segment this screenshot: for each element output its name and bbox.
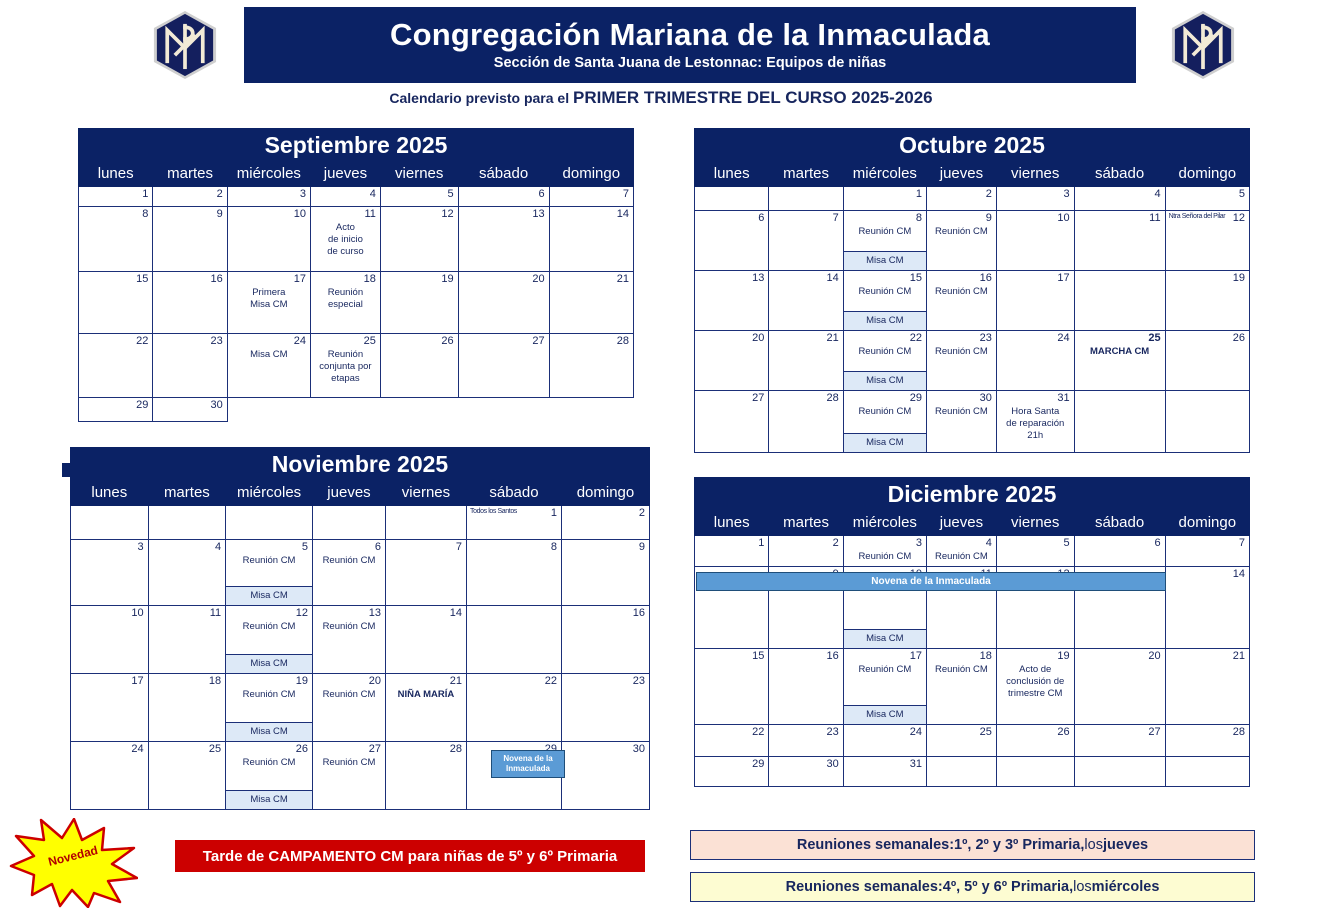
day-cell-25[interactable]: 25 [148, 742, 226, 810]
day-cell-6[interactable]: 6 [458, 187, 549, 207]
weekday-header-miércoles: miércoles [843, 161, 926, 187]
day-event-label: Reunión CM [313, 553, 385, 570]
day-number: 16 [769, 649, 842, 662]
calendar-week-row: 293031 [695, 756, 1250, 786]
day-cell-15[interactable]: 15 [695, 648, 769, 724]
day-cell-18[interactable]: 18Reuniónespecial [310, 272, 380, 334]
day-cell-14[interactable]: 14 [385, 606, 466, 674]
day-event-label: Tarde deCAMPAMENTO CM [1075, 284, 1165, 313]
calendar-week-row: 151617PrimeraMisa CM18Reuniónespecial192… [79, 272, 634, 334]
calendar-week-row: 2930 [79, 398, 634, 422]
day-cell-12[interactable]: 12 [380, 207, 458, 272]
weekday-header-lunes: lunes [695, 510, 769, 536]
day-cell-21[interactable]: 21 [549, 272, 633, 334]
day-cell-9[interactable]: 9 [153, 207, 227, 272]
day-number: 2 [153, 187, 226, 200]
day-cell-26[interactable]: 26 [996, 724, 1074, 756]
day-number: 16 [927, 271, 996, 284]
day-cell-29[interactable]: 29Reunión CMMisa CM [843, 391, 926, 453]
day-number: 6 [313, 540, 385, 553]
day-cell-14[interactable]: 14 [549, 207, 633, 272]
day-number [226, 506, 312, 507]
day-event-label: Reunión CM [844, 284, 926, 301]
day-cell-23[interactable]: 23 [561, 674, 649, 742]
day-cell-2[interactable]: 2 [153, 187, 227, 207]
weekday-header-sábado: sábado [1074, 510, 1165, 536]
day-cell-26[interactable]: 26 [380, 334, 458, 398]
day-number: 16 [562, 606, 649, 619]
day-cell-6[interactable]: 6Reunión CM [313, 540, 386, 606]
day-number: 12 [226, 606, 312, 619]
day-cell-empty [148, 506, 226, 540]
day-cell-16[interactable]: 16 [769, 648, 843, 724]
day-cell-1[interactable]: 1 [843, 187, 926, 211]
day-cell-7[interactable]: 7 [1165, 536, 1249, 567]
legend-pink-connector: los [1084, 837, 1103, 853]
day-number: 4 [1075, 187, 1165, 200]
day-cell-26[interactable]: 26 [1165, 331, 1249, 391]
weekday-header-miércoles: miércoles [843, 510, 926, 536]
weekday-header-row: lunesmartesmiércolesjuevesviernessábadod… [71, 480, 650, 506]
day-cell-12[interactable]: Ntra Señora del Pilar12 [1165, 211, 1249, 271]
weekday-header-martes: martes [769, 510, 843, 536]
day-number: 26 [226, 742, 312, 755]
day-number: 6 [695, 211, 768, 224]
day-event-label: NIÑA MARÍA [386, 687, 466, 704]
calendar-title-december: Diciembre 2025 [694, 477, 1250, 509]
day-cell-empty [1165, 756, 1249, 786]
day-cell-17[interactable]: 17PrimeraMisa CM [227, 272, 310, 334]
novena-bar: Novena de la Inmaculada [696, 572, 1166, 591]
weekday-header-sábado: sábado [458, 161, 549, 187]
day-number: 21 [550, 272, 633, 285]
day-cell-14[interactable]: 14 [769, 271, 843, 331]
day-event-label: MARCHA CM [1075, 344, 1165, 361]
day-number: 4 [311, 187, 380, 200]
day-cell-23[interactable]: 23 [153, 334, 227, 398]
day-cell-29[interactable]: 29 [695, 756, 769, 786]
day-cell-21[interactable]: 21 [769, 331, 843, 391]
day-cell-5[interactable]: 5 [380, 187, 458, 207]
day-cell-27[interactable]: 27 [695, 391, 769, 453]
day-cell-30[interactable]: 30Reunión CM [926, 391, 996, 453]
calendar-grid-december: lunesmartesmiércolesjuevesviernessábadod… [694, 509, 1250, 787]
day-event-label: Reuniónespecial [311, 285, 380, 314]
day-cell-26[interactable]: 26Reunión CMMisa CM [226, 742, 313, 810]
day-cell-28[interactable]: 28 [549, 334, 633, 398]
day-cell-4[interactable]: 4 [1074, 187, 1165, 211]
day-cell-28[interactable]: 28 [385, 742, 466, 810]
day-number [313, 506, 385, 507]
day-number: 22 [467, 674, 561, 687]
day-cell-19[interactable]: 19Reunión CMMisa CM [226, 674, 313, 742]
weekday-header-miércoles: miércoles [226, 480, 313, 506]
day-event-label: Reuniónconjunta poretapas [311, 347, 380, 388]
day-cell-8[interactable]: 8 [467, 540, 562, 606]
legend-yellow-grades: 4º, 5º y 6º Primaria, [943, 879, 1073, 895]
day-cell-13[interactable]: 13Reunión CM [313, 606, 386, 674]
day-cell-20[interactable]: 20Reunión CM [313, 674, 386, 742]
day-cell-16[interactable]: 16Reunión CM [926, 271, 996, 331]
day-event-label: Reunión CM [844, 662, 926, 679]
weekday-header-viernes: viernes [996, 510, 1074, 536]
day-cell-21[interactable]: 21NIÑA MARÍA [385, 674, 466, 742]
day-number: 2 [562, 506, 649, 519]
day-number: 6 [459, 187, 549, 200]
day-cell-11[interactable]: 11Actode iniciode curso [310, 207, 380, 272]
day-number: 18 [149, 674, 226, 687]
weekday-header-domingo: domingo [1165, 161, 1249, 187]
day-cell-13[interactable]: 13 [695, 271, 769, 331]
day-event-label: Reunión CM [927, 404, 996, 421]
day-cell-29[interactable]: 29 [79, 398, 153, 422]
calendar-week-row: 22232425262728 [695, 724, 1250, 756]
day-event-label: Reunión CM [313, 755, 385, 772]
day-number: 29 [844, 391, 926, 404]
day-cell-17[interactable]: 17 [71, 674, 149, 742]
page-title: Congregación Mariana de la Inmaculada [390, 19, 990, 52]
day-event-label: Reunión CM [927, 344, 996, 361]
day-cell-30[interactable]: 30 [769, 756, 843, 786]
day-cell-5[interactable]: 5 [1165, 187, 1249, 211]
day-cell-10[interactable]: 10 [227, 207, 310, 272]
day-cell-12[interactable]: 12Reunión CMMisa CM [226, 606, 313, 674]
weekday-header-jueves: jueves [313, 480, 386, 506]
day-event-label: Reunión CM [927, 284, 996, 301]
day-event-label: Actode iniciode curso [311, 220, 380, 261]
day-number: 3 [71, 540, 148, 553]
day-cell-18[interactable]: 18 [148, 674, 226, 742]
weekday-header-domingo: domingo [561, 480, 649, 506]
calendar-december: Diciembre 2025 lunesmartesmiércolesjueve… [694, 477, 1250, 787]
day-number: 19 [1166, 271, 1249, 284]
day-number: 11 [149, 606, 226, 619]
day-cell-11[interactable]: 11 [148, 606, 226, 674]
day-cell-15[interactable]: 15 [79, 272, 153, 334]
day-number: 19 [226, 674, 312, 687]
day-number: 24 [844, 725, 926, 738]
weekday-header-sábado: sábado [467, 480, 562, 506]
day-cell-empty [385, 506, 466, 540]
day-cell-30[interactable]: 30 [561, 742, 649, 810]
day-cell-27[interactable]: 27 [458, 334, 549, 398]
day-event-label: Reunión CM [313, 619, 385, 636]
day-cell-10[interactable]: 10 [996, 211, 1074, 271]
day-cell-3[interactable]: 3 [227, 187, 310, 207]
monogram-hexagon-logo-right [1166, 8, 1240, 82]
day-cell-6[interactable]: 6 [1074, 536, 1165, 567]
day-number: 22 [79, 334, 152, 347]
calendar-title-november: Noviembre 2025 [70, 447, 650, 479]
day-cell-15[interactable]: 15Reunión CMMisa CM [843, 271, 926, 331]
day-cell-25[interactable]: 25 [926, 724, 996, 756]
day-cell-empty [380, 398, 458, 422]
day-cell-16[interactable]: 16 [561, 606, 649, 674]
legend-yellow-connector: los [1073, 879, 1092, 895]
day-cell-1[interactable]: Todos los Santos1 [467, 506, 562, 540]
day-number: 7 [550, 187, 633, 200]
day-event-label: Reunión CM [226, 553, 312, 570]
day-event-label: Reunión CM [226, 619, 312, 636]
calendar-week-row: 171819Reunión CMMisa CM20Reunión CM21NIÑ… [71, 674, 650, 742]
day-cell-30[interactable]: 30 [153, 398, 227, 422]
day-number: 9 [153, 207, 226, 220]
day-cell-3[interactable]: 3 [71, 540, 149, 606]
day-cell-17[interactable]: 17Reunión CMMisa CM [843, 648, 926, 724]
day-number: 18 [1075, 271, 1165, 284]
day-number: 13 [695, 271, 768, 284]
day-cell-20[interactable]: 20 [458, 272, 549, 334]
day-cell-20[interactable]: 20 [695, 331, 769, 391]
day-number: 9 [562, 540, 649, 553]
day-number: 28 [386, 742, 466, 755]
day-cell-5[interactable]: 5 [996, 536, 1074, 567]
day-cell-4[interactable]: 4 [148, 540, 226, 606]
day-cell-17[interactable]: 17 [996, 271, 1074, 331]
day-number: 4 [927, 536, 996, 549]
day-number: 3 [997, 187, 1074, 200]
day-cell-empty [310, 398, 380, 422]
day-cell-6[interactable]: 6 [695, 211, 769, 271]
day-number: 10 [228, 207, 310, 220]
day-number: 19 [997, 649, 1074, 662]
day-number: 30 [769, 757, 842, 770]
day-number: 30 [562, 742, 649, 755]
day-cell-18[interactable]: 18Tarde deCAMPAMENTO CM [1074, 271, 1165, 331]
day-event-label: Tarde deCAMPAMENTO CM [467, 619, 561, 648]
weekday-header-jueves: jueves [926, 161, 996, 187]
day-cell-11[interactable]: 11 [1074, 211, 1165, 271]
day-cell-8[interactable]: 8 [79, 207, 153, 272]
calendar-grid-october: lunesmartesmiércolesjuevesviernessábadod… [694, 160, 1250, 453]
day-cell-10[interactable]: 10 [71, 606, 149, 674]
weekday-header-lunes: lunes [71, 480, 149, 506]
day-cell-24[interactable]: 24 [843, 724, 926, 756]
day-event-label: Reunión CM [844, 549, 926, 566]
day-number [71, 506, 148, 507]
day-cell-5[interactable]: 5Reunión CMMisa CM [226, 540, 313, 606]
day-cell-1[interactable]: 1 [79, 187, 153, 207]
calendar-week-row: 202122Reunión CMMisa CM23Reunión CM2425M… [695, 331, 1250, 391]
day-number: 8 [79, 207, 152, 220]
day-cell-3[interactable]: 3Reunión CM [843, 536, 926, 567]
day-cell-19[interactable]: 19Acto deconclusión detrimestre CM [996, 648, 1074, 724]
weekday-header-domingo: domingo [1165, 510, 1249, 536]
day-secondary-event-label: Misa CM [226, 586, 312, 605]
day-cell-empty [313, 506, 386, 540]
day-cell-14[interactable]: 14 [1165, 566, 1249, 648]
day-event-label: Reunión CM [927, 662, 996, 679]
day-cell-25[interactable]: 25MARCHA CM [1074, 331, 1165, 391]
day-number: 10 [71, 606, 148, 619]
weekday-header-martes: martes [148, 480, 226, 506]
day-cell-27[interactable]: 27 [1074, 724, 1165, 756]
day-number: 29 [695, 757, 768, 770]
day-cell-28[interactable]: 28 [769, 391, 843, 453]
day-number: 20 [1075, 649, 1165, 662]
weekday-header-row: lunesmartesmiércolesjuevesviernessábadod… [695, 161, 1250, 187]
novedad-starburst [8, 818, 138, 908]
weekday-header-martes: martes [153, 161, 227, 187]
day-number: 9 [927, 211, 996, 224]
day-number: 20 [313, 674, 385, 687]
day-cell-18[interactable]: 18Reunión CM [926, 648, 996, 724]
day-cell-7[interactable]: 7 [549, 187, 633, 207]
day-cell-2[interactable]: 2 [769, 536, 843, 567]
day-number: 15 [695, 649, 768, 662]
calendar-week-row: 123Reunión CM4Reunión CM567 [695, 536, 1250, 567]
day-number: 28 [550, 334, 633, 347]
day-event-label: Reunión CM [844, 224, 926, 241]
day-number: 21 [1166, 649, 1249, 662]
calendar-title-september: Septiembre 2025 [78, 128, 634, 160]
day-cell-empty [1074, 756, 1165, 786]
day-number: 13 [313, 606, 385, 619]
day-cell-4[interactable]: 4 [310, 187, 380, 207]
day-number: 5 [226, 540, 312, 553]
day-number: 14 [550, 207, 633, 220]
day-secondary-event-label: Misa CM [844, 629, 926, 648]
day-cell-empty [769, 187, 843, 211]
day-event-label: Reunión CM [844, 404, 926, 421]
day-number: 10 [997, 211, 1074, 224]
day-secondary-event-label: Misa CM [844, 371, 926, 390]
day-event-label: Reunión CM [927, 224, 996, 241]
day-number: 19 [381, 272, 458, 285]
day-cell-23[interactable]: 23 [769, 724, 843, 756]
day-number: 5 [381, 187, 458, 200]
day-cell-24[interactable]: 24 [996, 331, 1074, 391]
calendar-week-row: 678Reunión CMMisa CM9Reunión CM1011Ntra … [695, 211, 1250, 271]
calendar-week-row: 222324Misa CM25Reuniónconjunta poretapas… [79, 334, 634, 398]
day-number: 14 [769, 271, 842, 284]
day-number: 21 [769, 331, 842, 344]
day-number: 28 [769, 391, 842, 404]
weekday-header-sábado: sábado [1074, 161, 1165, 187]
day-cell-9[interactable]: 9 [561, 540, 649, 606]
day-number: 16 [153, 272, 226, 285]
calendar-week-row: 151617Reunión CMMisa CM18Reunión CM19Act… [695, 648, 1250, 724]
legend-campamento: Tarde de CAMPAMENTO CM para niñas de 5º … [175, 840, 645, 872]
day-cell-22[interactable]: 22 [467, 674, 562, 742]
day-number: 7 [386, 540, 466, 553]
calendar-november: Noviembre 2025 lunesmartesmiércolesjueve… [70, 447, 650, 810]
day-number: 3 [844, 536, 926, 549]
day-cell-1[interactable]: 1 [695, 536, 769, 567]
day-cell-empty [227, 398, 310, 422]
day-cell-3[interactable]: 3 [996, 187, 1074, 211]
day-cell-2[interactable]: 2 [926, 187, 996, 211]
day-cell-13[interactable]: 13 [458, 207, 549, 272]
day-cell-9[interactable]: 9Reunión CM [926, 211, 996, 271]
day-secondary-event-label: Misa CM [844, 251, 926, 270]
day-number: 2 [927, 187, 996, 200]
day-cell-31[interactable]: 31Hora Santade reparación21h [996, 391, 1074, 453]
day-number: 23 [927, 331, 996, 344]
weekday-header-lunes: lunes [695, 161, 769, 187]
day-cell-empty [71, 506, 149, 540]
day-cell-24[interactable]: 24 [71, 742, 149, 810]
day-number: 17 [228, 272, 310, 285]
day-cell-empty [926, 756, 996, 786]
day-event-label: Reunión CM [927, 549, 996, 566]
page-subtitle: Sección de Santa Juana de Lestonnac: Equ… [494, 55, 886, 71]
day-note: Ntra Señora del Pilar [1169, 213, 1226, 220]
day-number: 24 [997, 331, 1074, 344]
day-number: 1 [695, 536, 768, 549]
day-number [1075, 757, 1165, 758]
day-number: 25 [1075, 331, 1165, 344]
day-cell-4[interactable]: 4Reunión CM [926, 536, 996, 567]
day-cell-31[interactable]: 31 [843, 756, 926, 786]
day-number: 12 [381, 207, 458, 220]
day-number [1166, 757, 1249, 758]
day-secondary-event-label: Misa CM [226, 654, 312, 673]
legend-reuniones-jueves: Reuniones semanales: 1º, 2º y 3º Primari… [690, 830, 1255, 860]
day-cell-25[interactable]: 25Reuniónconjunta poretapas [310, 334, 380, 398]
day-number: 30 [927, 391, 996, 404]
day-cell-22[interactable]: 22 [695, 724, 769, 756]
day-number: 26 [997, 725, 1074, 738]
day-number: 25 [311, 334, 380, 347]
day-cell-empty [458, 398, 549, 422]
day-note: Todos los Santos [470, 508, 517, 515]
day-number: 20 [459, 272, 549, 285]
day-cell-23[interactable]: 23Reunión CM [926, 331, 996, 391]
day-event-label: Reunión CM [844, 344, 926, 361]
calendar-week-row: 345Reunión CMMisa CM6Reunión CM789 [71, 540, 650, 606]
weekday-header-row: lunesmartesmiércolesjuevesviernessábadod… [79, 161, 634, 187]
day-cell-empty [549, 398, 633, 422]
day-number: 15 [79, 272, 152, 285]
calendar-week-row: 101112Reunión CMMisa CM13Reunión CM1415T… [71, 606, 650, 674]
day-number: 22 [695, 725, 768, 738]
day-cell-20[interactable]: 20 [1074, 648, 1165, 724]
day-secondary-event-label: Misa CM [844, 433, 926, 452]
day-cell-7[interactable]: 7 [385, 540, 466, 606]
day-cell-15[interactable]: 15Tarde deCAMPAMENTO CM [467, 606, 562, 674]
day-cell-7[interactable]: 7 [769, 211, 843, 271]
day-number: 27 [313, 742, 385, 755]
day-cell-22[interactable]: 22 [79, 334, 153, 398]
day-cell-2[interactable]: 2 [561, 506, 649, 540]
day-cell-8[interactable]: 8Reunión CMMisa CM [843, 211, 926, 271]
day-cell-19[interactable]: 19 [1165, 271, 1249, 331]
day-number: 1 [844, 187, 926, 200]
day-cell-16[interactable]: 16 [153, 272, 227, 334]
day-number [695, 187, 768, 188]
legend-pink-grades: 1º, 2º y 3º Primaria, [954, 837, 1084, 853]
day-cell-28[interactable]: 28 [1165, 724, 1249, 756]
calendar-october: Octubre 2025 lunesmartesmiércolesjuevesv… [694, 128, 1250, 453]
day-cell-22[interactable]: 22Reunión CMMisa CM [843, 331, 926, 391]
day-number: 8 [844, 211, 926, 224]
day-cell-19[interactable]: 19 [380, 272, 458, 334]
weekday-header-jueves: jueves [926, 510, 996, 536]
day-number: 4 [149, 540, 226, 553]
day-cell-empty [226, 506, 313, 540]
day-number: 29 [79, 398, 152, 411]
day-cell-21[interactable]: 21 [1165, 648, 1249, 724]
day-number: 23 [562, 674, 649, 687]
weekday-header-viernes: viernes [385, 480, 466, 506]
day-cell-27[interactable]: 27Reunión CM [313, 742, 386, 810]
calendar-week-row: 1234567 [79, 187, 634, 207]
day-number [149, 506, 226, 507]
calendar-tab-marker [62, 463, 71, 477]
day-cell-24[interactable]: 24Misa CM [227, 334, 310, 398]
legend-yellow-prefix: Reuniones semanales: [786, 879, 943, 895]
